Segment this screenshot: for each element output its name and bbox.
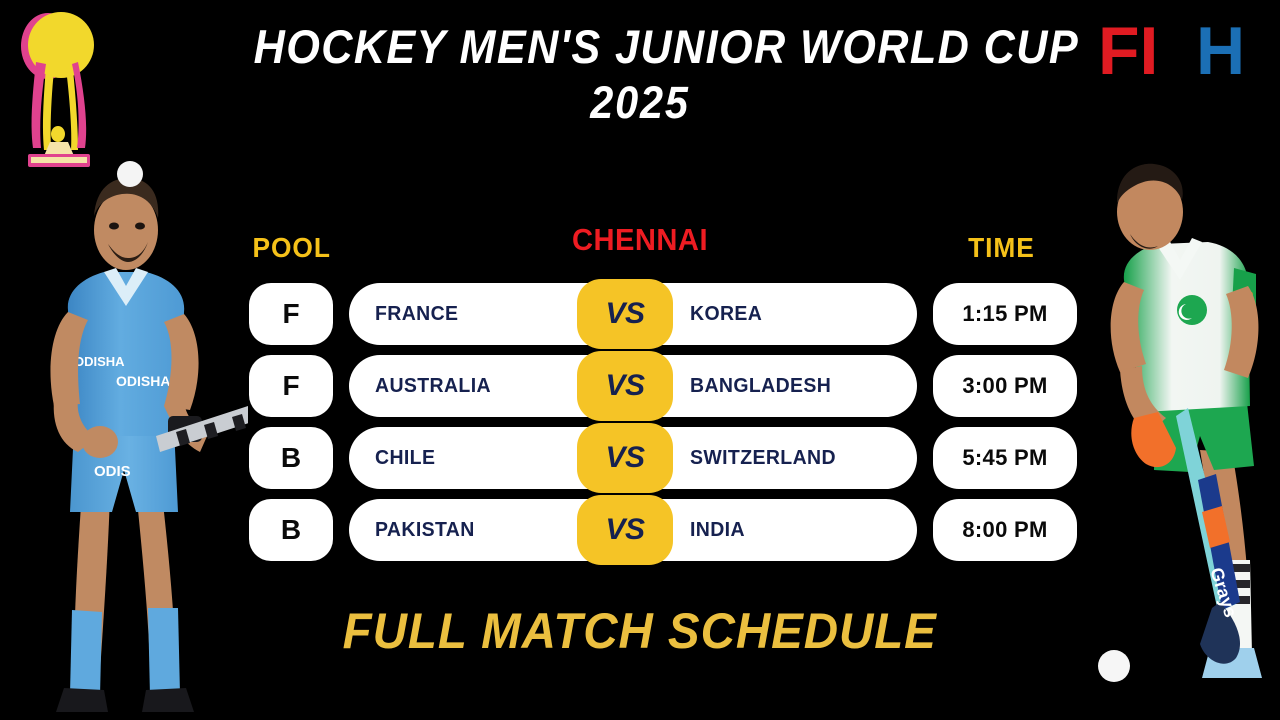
home-team-name: AUSTRALIA [375,355,491,417]
title-line-year: 2025 [254,76,1027,130]
title-line-1: HOCKEY MEN'S JUNIOR WORLD CUP [254,18,1027,76]
match-time: 1:15 PM [962,301,1047,327]
vs-label: VS [605,299,644,329]
pool-badge: F [249,283,333,345]
vs-label: VS [605,371,644,401]
match-time-badge: 1:15 PM [933,283,1077,345]
table-row[interactable]: B PAKISTAN VS INDIA 8:00 PM [0,499,1280,561]
svg-text:FI: FI [1098,13,1158,89]
home-team-name: CHILE [375,427,435,489]
fih-logo-icon: FI H [1092,8,1264,94]
table-row[interactable]: F FRANCE VS KOREA 1:15 PM [0,283,1280,345]
header-venue: CHENNAI [38,222,1241,258]
column-headers: POOL CHENNAI TIME [0,222,1280,268]
footer-label: FULL MATCH SCHEDULE [343,602,937,660]
trophy-icon [6,2,110,170]
match-time: 3:00 PM [962,373,1047,399]
match-time-badge: 3:00 PM [933,355,1077,417]
home-team-name: FRANCE [375,283,458,345]
away-team-name: SWITZERLAND [690,427,836,489]
vs-badge: VS [577,351,673,421]
pool-badge: B [249,427,333,489]
match-schedule-poster: FI H ODIS O [0,0,1280,720]
fixture-card: FRANCE VS KOREA [349,283,917,345]
pool-letter: B [281,444,301,472]
match-time: 5:45 PM [962,445,1047,471]
vs-badge: VS [577,495,673,565]
vs-badge: VS [577,279,673,349]
pool-badge: B [249,499,333,561]
fixture-card: CHILE VS SWITZERLAND [349,427,917,489]
vs-label: VS [605,515,644,545]
match-time: 8:00 PM [962,517,1047,543]
vs-badge: VS [577,423,673,493]
footer-banner: FULL MATCH SCHEDULE [0,602,1280,660]
match-schedule-list: F FRANCE VS KOREA 1:15 PM F AUSTRALIA VS [0,283,1280,571]
match-time-badge: 8:00 PM [933,499,1077,561]
page-title: HOCKEY MEN'S JUNIOR WORLD CUP 2025 [220,18,1060,130]
match-time-badge: 5:45 PM [933,427,1077,489]
pool-letter: F [282,372,299,400]
table-row[interactable]: B CHILE VS SWITZERLAND 5:45 PM [0,427,1280,489]
pool-letter: B [281,516,301,544]
away-team-name: BANGLADESH [690,355,831,417]
vs-label: VS [605,443,644,473]
pool-letter: F [282,300,299,328]
header-time: TIME [968,232,1035,264]
pool-badge: F [249,355,333,417]
svg-text:H: H [1196,13,1245,89]
fixture-card: PAKISTAN VS INDIA [349,499,917,561]
fixture-card: AUSTRALIA VS BANGLADESH [349,355,917,417]
home-team-name: PAKISTAN [375,499,475,561]
away-team-name: KOREA [690,283,762,345]
table-row[interactable]: F AUSTRALIA VS BANGLADESH 3:00 PM [0,355,1280,417]
away-team-name: INDIA [690,499,745,561]
